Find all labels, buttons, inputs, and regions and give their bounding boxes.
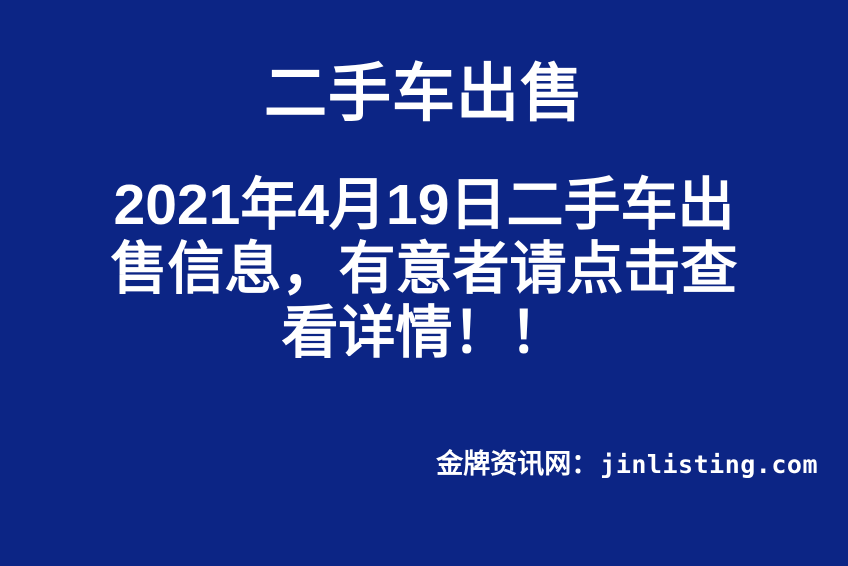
announcement-body: 2021年4月19日二手车出 售信息，有意者请点击查 看详情！！ bbox=[0, 173, 848, 365]
site-url-label: jinlisting.com bbox=[600, 449, 818, 481]
site-name-label: 金牌资讯网： bbox=[436, 448, 598, 480]
announcement-line-1: 2021年4月19日二手车出 bbox=[0, 173, 848, 237]
announcement-line-2: 售信息，有意者请点击查 bbox=[0, 237, 848, 301]
announcement-line-3: 看详情！！ bbox=[0, 301, 848, 365]
footer-attribution: 金牌资讯网： jinlisting.com bbox=[436, 448, 818, 481]
promo-poster: 二手车出售 2021年4月19日二手车出 售信息，有意者请点击查 看详情！！ 金… bbox=[0, 0, 848, 566]
page-title: 二手车出售 bbox=[0, 62, 848, 126]
